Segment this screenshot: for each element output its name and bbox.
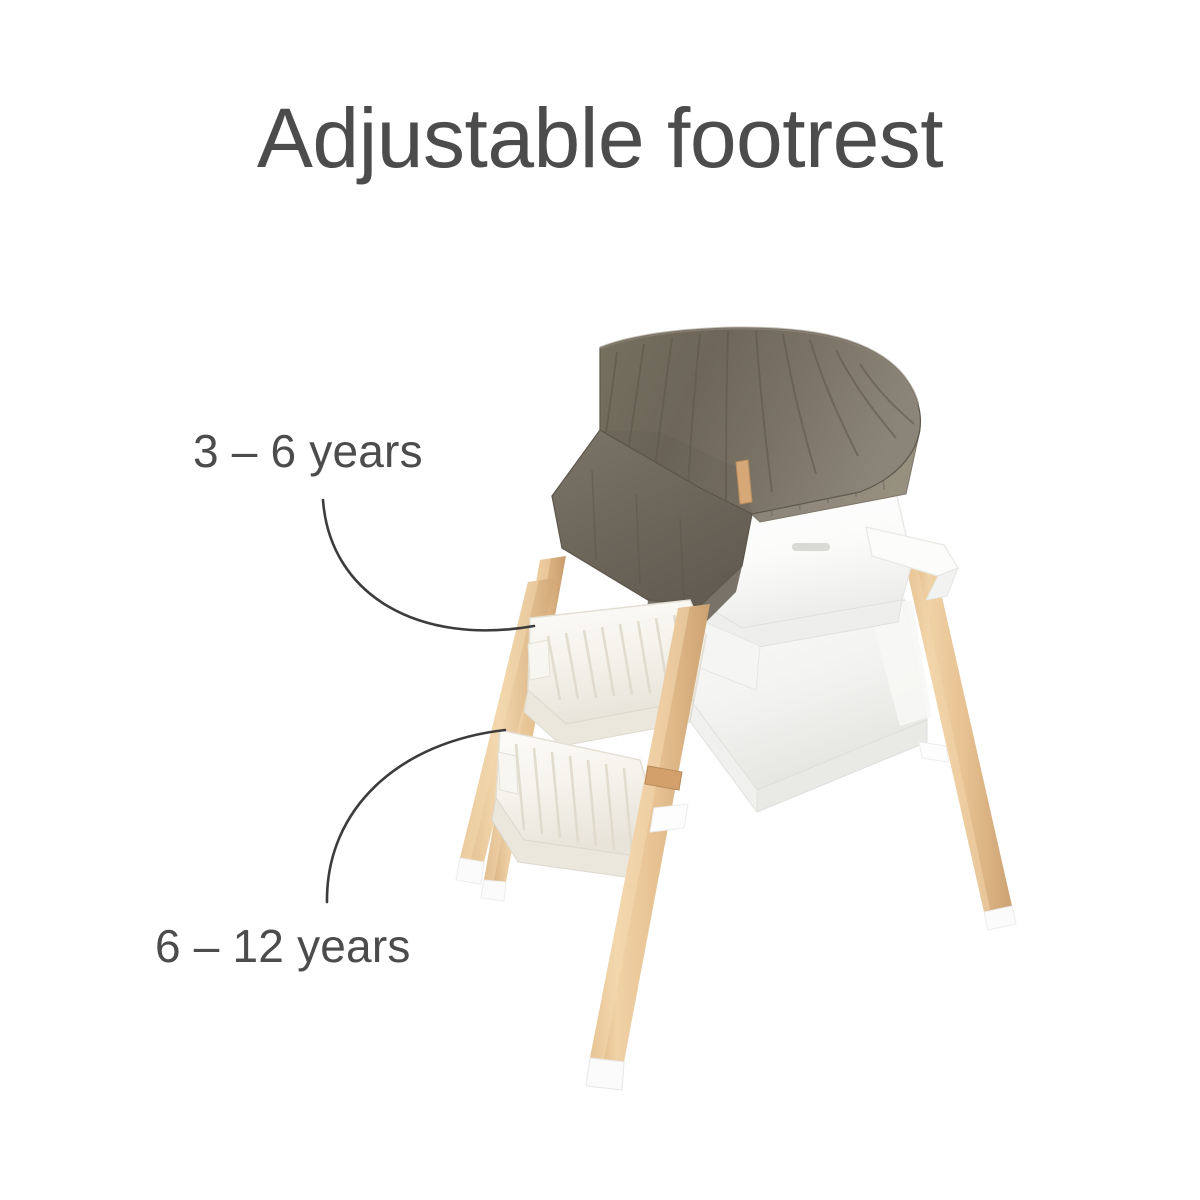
lower-footrest-step[interactable] <box>492 730 652 878</box>
product-feature-card: Adjustable footrest <box>0 0 1200 1200</box>
callout-label-upper-footrest: 3 – 6 years <box>193 428 423 474</box>
rear-right-leg <box>905 562 1016 930</box>
high-chair-illustration <box>0 0 1200 1200</box>
callout-label-lower-footrest: 6 – 12 years <box>155 923 411 969</box>
